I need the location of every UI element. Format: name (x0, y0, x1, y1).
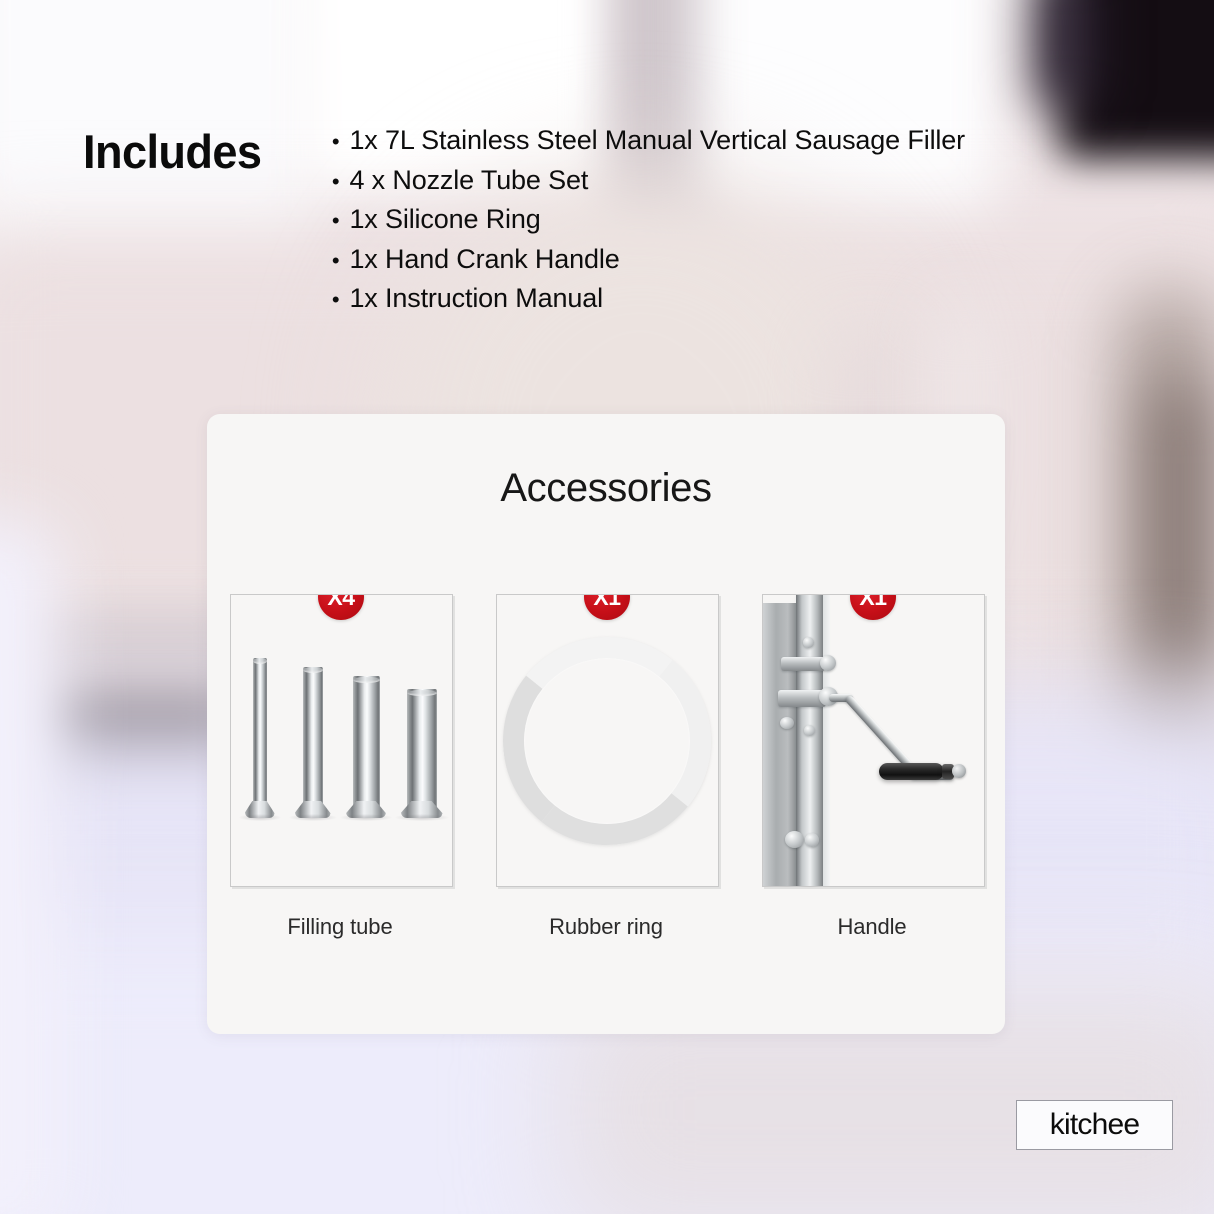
list-item: • 1x Instruction Manual (332, 285, 965, 312)
panel-bolt-upper-small (803, 637, 814, 648)
panel-bolt-mid (804, 725, 815, 736)
tube-shaft (253, 658, 267, 809)
background-dark-panel-edge (1035, 0, 1095, 110)
tube-shadow (239, 814, 281, 821)
panel-fitting-upper (781, 657, 825, 671)
list-item-label: 1x 7L Stainless Steel Manual Vertical Sa… (349, 127, 965, 154)
rubber-ring-illustration (497, 595, 718, 886)
background-column-4 (1150, 380, 1210, 680)
filling-tube-1 (253, 658, 267, 818)
accessory-image-frame: X4 (230, 594, 453, 887)
filling-tube-4 (407, 690, 437, 818)
panel-bolt-lower (805, 833, 819, 847)
accessory-label: Rubber ring (496, 914, 717, 940)
tube-shaft (407, 689, 437, 809)
tube-rim (353, 677, 380, 683)
accessories-items-row: X4 (207, 594, 1005, 940)
tube-shadow (340, 814, 392, 821)
machine-panel-edge (823, 595, 830, 886)
product-infographic: Includes • 1x 7L Stainless Steel Manual … (0, 0, 1214, 1214)
silicone-ring (496, 626, 719, 855)
panel-clamp-mid (780, 717, 794, 729)
accessory-label: Filling tube (230, 914, 451, 940)
list-item-label: 4 x Nozzle Tube Set (349, 167, 588, 194)
accessories-heading: Accessories (207, 466, 1005, 511)
accessory-image-frame: X1 (496, 594, 719, 887)
accessories-card: Accessories X4 (207, 414, 1005, 1034)
handle-grip (879, 763, 944, 780)
accessory-image-frame: X1 (762, 594, 985, 887)
background-left-edge (0, 520, 60, 1214)
list-item: • 1x 7L Stainless Steel Manual Vertical … (332, 127, 965, 154)
bullet-icon: • (332, 171, 340, 193)
accessory-item-filling-tube: X4 (230, 594, 451, 940)
panel-bolt-upper (820, 655, 836, 671)
panel-clamp-lower (785, 831, 804, 848)
list-item-label: 1x Hand Crank Handle (349, 246, 619, 273)
list-item-label: 1x Instruction Manual (349, 285, 602, 312)
includes-list: • 1x 7L Stainless Steel Manual Vertical … (332, 127, 965, 325)
tube-shadow (395, 814, 449, 821)
tube-shaft (303, 667, 323, 809)
bullet-icon: • (332, 250, 340, 272)
accessory-item-rubber-ring: X1 Rubber ring (496, 594, 717, 940)
handle-grip-end-cap (952, 764, 966, 778)
list-item: • 4 x Nozzle Tube Set (332, 167, 965, 194)
brand-logo: kitchee (1016, 1100, 1173, 1150)
tube-shaft (353, 676, 380, 809)
filling-tube-2 (303, 667, 323, 818)
includes-section: Includes • 1x 7L Stainless Steel Manual … (83, 124, 1103, 325)
tube-rim (407, 690, 437, 696)
list-item: • 1x Silicone Ring (332, 206, 965, 233)
list-item: • 1x Hand Crank Handle (332, 246, 965, 273)
tube-rim (253, 658, 267, 664)
brand-logo-text: kitchee (1050, 1110, 1139, 1140)
bullet-icon: • (332, 131, 340, 153)
list-item-label: 1x Silicone Ring (349, 206, 540, 233)
tube-shadow (289, 814, 337, 821)
crank-handle-illustration (763, 595, 984, 886)
bullet-icon: • (332, 289, 340, 311)
bullet-icon: • (332, 210, 340, 232)
accessory-item-handle: X1 (762, 594, 983, 940)
quantity-badge: X4 (318, 594, 364, 620)
includes-heading: Includes (83, 128, 261, 175)
filling-tube-3 (353, 677, 380, 818)
tube-rim (303, 667, 323, 673)
accessory-label: Handle (762, 914, 983, 940)
filling-tubes-illustration (231, 628, 452, 818)
